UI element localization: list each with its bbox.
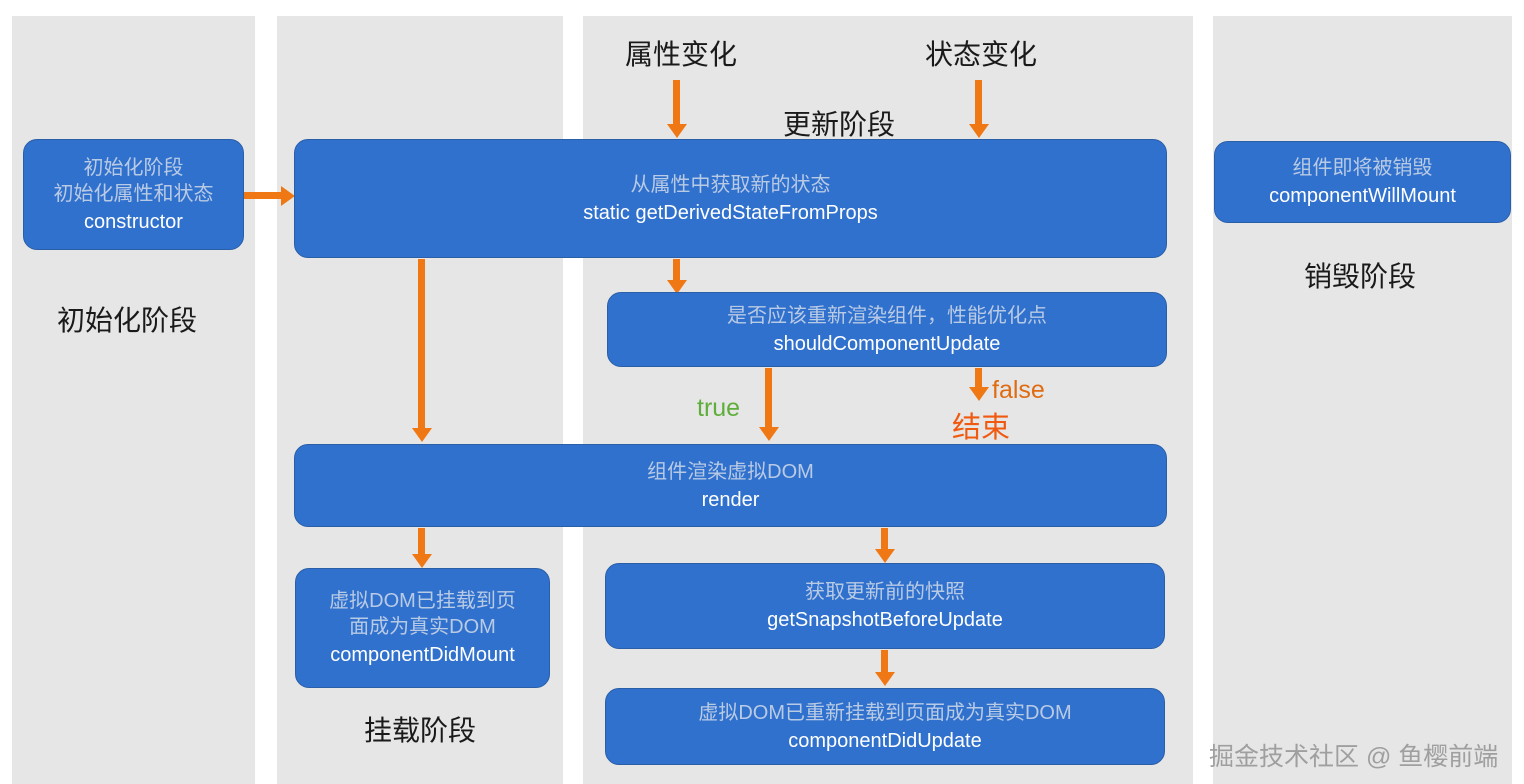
arrow-derived-state-to-render-mount (418, 259, 425, 429)
band-destroy-phase (1213, 16, 1512, 784)
box-should-update-cn: 是否应该重新渲染组件，性能优化点 (727, 303, 1047, 329)
box-component-will-unmount[interactable]: 组件即将被销毁 componentWillMount (1214, 141, 1511, 223)
box-constructor[interactable]: 初始化阶段 初始化属性和状态 constructor (23, 139, 244, 250)
box-get-snapshot-en: getSnapshotBeforeUpdate (767, 607, 1003, 633)
box-did-mount-cn: 虚拟DOM已挂载到页 面成为真实DOM (329, 588, 516, 640)
box-render-cn: 组件渲染虚拟DOM (647, 459, 814, 485)
band-init-phase (12, 16, 255, 784)
box-component-did-mount[interactable]: 虚拟DOM已挂载到页 面成为真实DOM componentDidMount (295, 568, 550, 688)
box-should-component-update[interactable]: 是否应该重新渲染组件，性能优化点 shouldComponentUpdate (607, 292, 1167, 367)
lifecycle-diagram: 属性变化 状态变化 更新阶段 初始化阶段 初始化属性和状态 constructo… (0, 0, 1524, 784)
box-will-unmount-cn: 组件即将被销毁 (1293, 155, 1433, 181)
box-did-update-cn: 虚拟DOM已重新挂载到页面成为真实DOM (698, 700, 1071, 726)
phase-label-destroy: 销毁阶段 (1304, 255, 1416, 295)
box-did-mount-en: componentDidMount (330, 642, 515, 668)
box-constructor-cn: 初始化阶段 初始化属性和状态 (54, 155, 214, 207)
phase-label-mount: 挂载阶段 (364, 709, 476, 749)
phase-label-init: 初始化阶段 (57, 299, 197, 339)
box-get-derived-state-cn: 从属性中获取新的状态 (631, 172, 831, 198)
watermark-label: 掘金技术社区 @ 鱼樱前端 (1209, 737, 1498, 773)
box-get-snapshot-before-update[interactable]: 获取更新前的快照 getSnapshotBeforeUpdate (605, 563, 1165, 649)
arrow-render-to-did-mount (418, 528, 425, 555)
box-component-did-update[interactable]: 虚拟DOM已重新挂载到页面成为真实DOM componentDidUpdate (605, 688, 1165, 765)
box-will-unmount-en: componentWillMount (1269, 183, 1456, 209)
arrow-props-to-derived-state (673, 80, 680, 125)
box-render-en: render (702, 487, 760, 513)
arrow-should-update-true (765, 368, 772, 428)
arrow-should-update-false (975, 368, 982, 388)
arrow-get-snapshot-to-did-update (881, 650, 888, 673)
arrow-state-to-derived-state (975, 80, 982, 125)
box-get-derived-state-from-props[interactable]: 从属性中获取新的状态 static getDerivedStateFromPro… (294, 139, 1167, 258)
box-did-update-en: componentDidUpdate (788, 728, 981, 754)
box-should-update-en: shouldComponentUpdate (774, 331, 1001, 357)
box-render[interactable]: 组件渲染虚拟DOM render (294, 444, 1167, 527)
branch-label-end: 结束 (952, 404, 1010, 446)
box-get-derived-state-en: static getDerivedStateFromProps (583, 200, 878, 226)
branch-label-false: false (992, 376, 1045, 405)
arrow-render-to-get-snapshot (881, 528, 888, 550)
box-get-snapshot-cn: 获取更新前的快照 (805, 579, 965, 605)
trigger-props-change-label: 属性变化 (625, 33, 737, 73)
branch-label-true: true (697, 394, 740, 423)
arrow-constructor-to-derived-state (244, 192, 282, 199)
box-constructor-en: constructor (84, 209, 183, 235)
trigger-state-change-label: 状态变化 (925, 33, 1037, 73)
phase-label-update: 更新阶段 (783, 103, 895, 143)
arrow-derived-state-to-should-update (673, 259, 680, 281)
